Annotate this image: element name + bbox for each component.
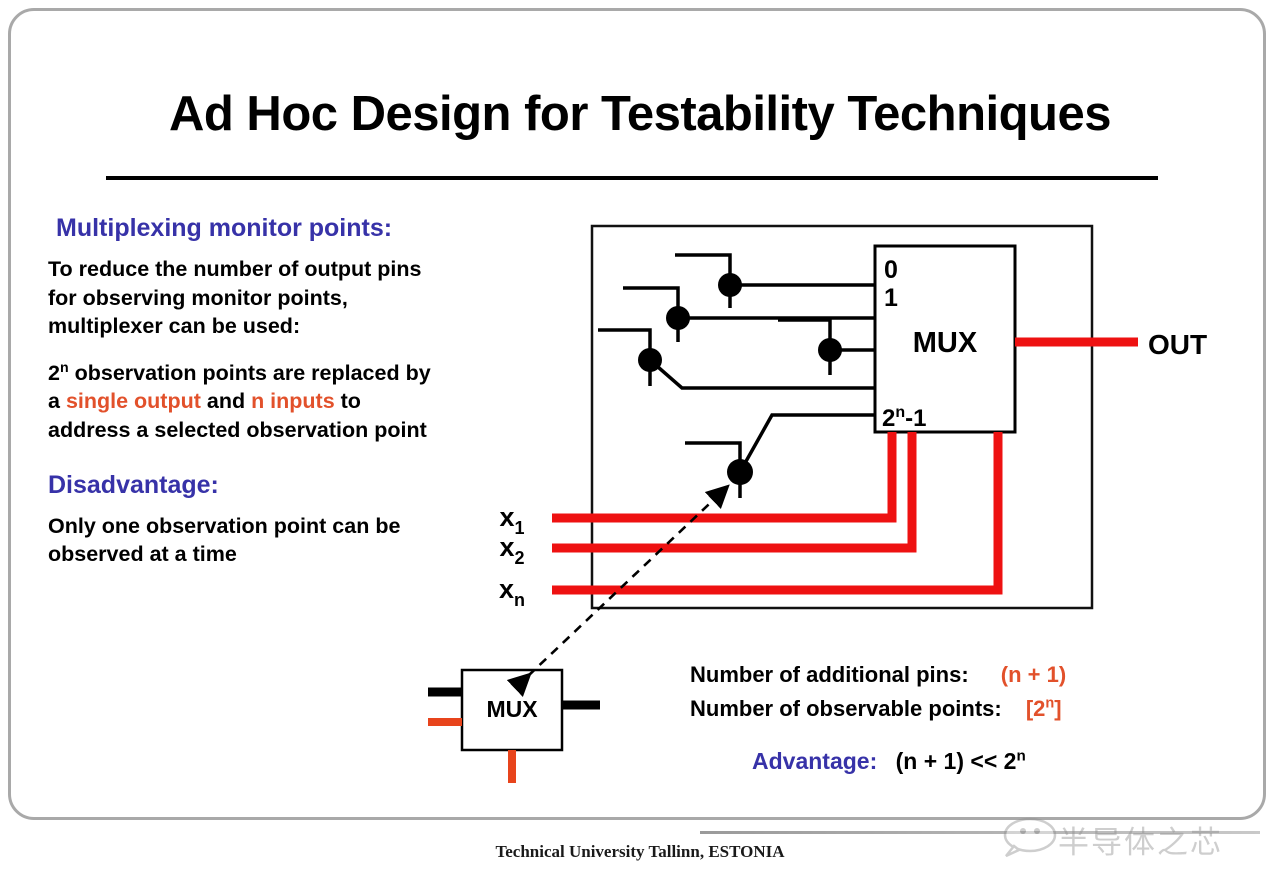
section-heading-disadvantage: Disadvantage:	[48, 471, 448, 500]
paragraph-disadvantage: Only one observation point can be observ…	[48, 512, 448, 569]
summary-info-block: Number of additional pins: (n + 1) Numbe…	[690, 658, 1250, 775]
left-text-column: Multiplexing monitor points: To reduce t…	[48, 214, 448, 587]
info-row-observable-points: Number of observable points: [2n]	[690, 692, 1250, 726]
advantage-expr-sup: n	[1016, 748, 1025, 765]
monitor-point-dot-1	[666, 306, 690, 330]
select-wire-x2	[552, 432, 912, 548]
points-open: [2	[1026, 696, 1046, 721]
monitor-point-dot-3	[638, 348, 662, 372]
value-additional-pins: (n + 1)	[1001, 662, 1066, 687]
page-title: Ad Hoc Design for Testability Techniques	[0, 86, 1280, 142]
monitor-tap-0	[675, 255, 875, 308]
paragraph-observation-points: 2n observation points are replaced by a …	[48, 359, 448, 445]
monitor-point-dot-2	[818, 338, 842, 362]
advantage-expr-main: (n + 1) << 2	[896, 748, 1017, 774]
para2-t3: and	[201, 389, 251, 413]
highlight-n-inputs: n inputs	[251, 389, 335, 413]
points-close: ]	[1054, 696, 1061, 721]
monitor-tap-1	[623, 288, 875, 342]
monitor-point-dot-last	[727, 459, 753, 485]
label-additional-pins: Number of additional pins:	[690, 662, 969, 687]
para2-sup1: n	[60, 360, 69, 376]
monitor-point-dot-0	[718, 273, 742, 297]
footer-divider	[700, 831, 1260, 834]
value-observable-points: [2n]	[1026, 696, 1062, 721]
advantage-line: Advantage: (n + 1) << 2n	[752, 748, 1250, 775]
label-observable-points: Number of observable points:	[690, 696, 1002, 721]
info-row-additional-pins: Number of additional pins: (n + 1)	[690, 658, 1250, 692]
advantage-label: Advantage:	[752, 748, 877, 774]
advantage-expression: (n + 1) << 2n	[896, 748, 1026, 774]
out-label: OUT	[1148, 329, 1207, 360]
points-sup: n	[1045, 696, 1054, 712]
mux-port-label-0: 0	[884, 256, 898, 284]
footer-attribution: Technical University Tallinn, ESTONIA	[0, 842, 1280, 862]
para2-t1: 2	[48, 361, 60, 385]
highlight-single-output: single output	[66, 389, 201, 413]
monitor-tap-last	[685, 415, 875, 498]
title-divider	[106, 176, 1158, 180]
select-label-xn: xn	[499, 574, 525, 610]
paragraph-reduce-pins: To reduce the number of output pins for …	[48, 255, 448, 341]
select-wire-xn	[552, 432, 998, 590]
mux-port-label-last: 2n-1	[882, 404, 926, 432]
select-wire-x1	[552, 432, 892, 518]
mux-port-label-1: 1	[884, 284, 898, 312]
section-heading-multiplexing: Multiplexing monitor points:	[56, 214, 448, 243]
detail-mux-label: MUX	[486, 696, 538, 722]
mux-box-label: MUX	[913, 327, 978, 359]
